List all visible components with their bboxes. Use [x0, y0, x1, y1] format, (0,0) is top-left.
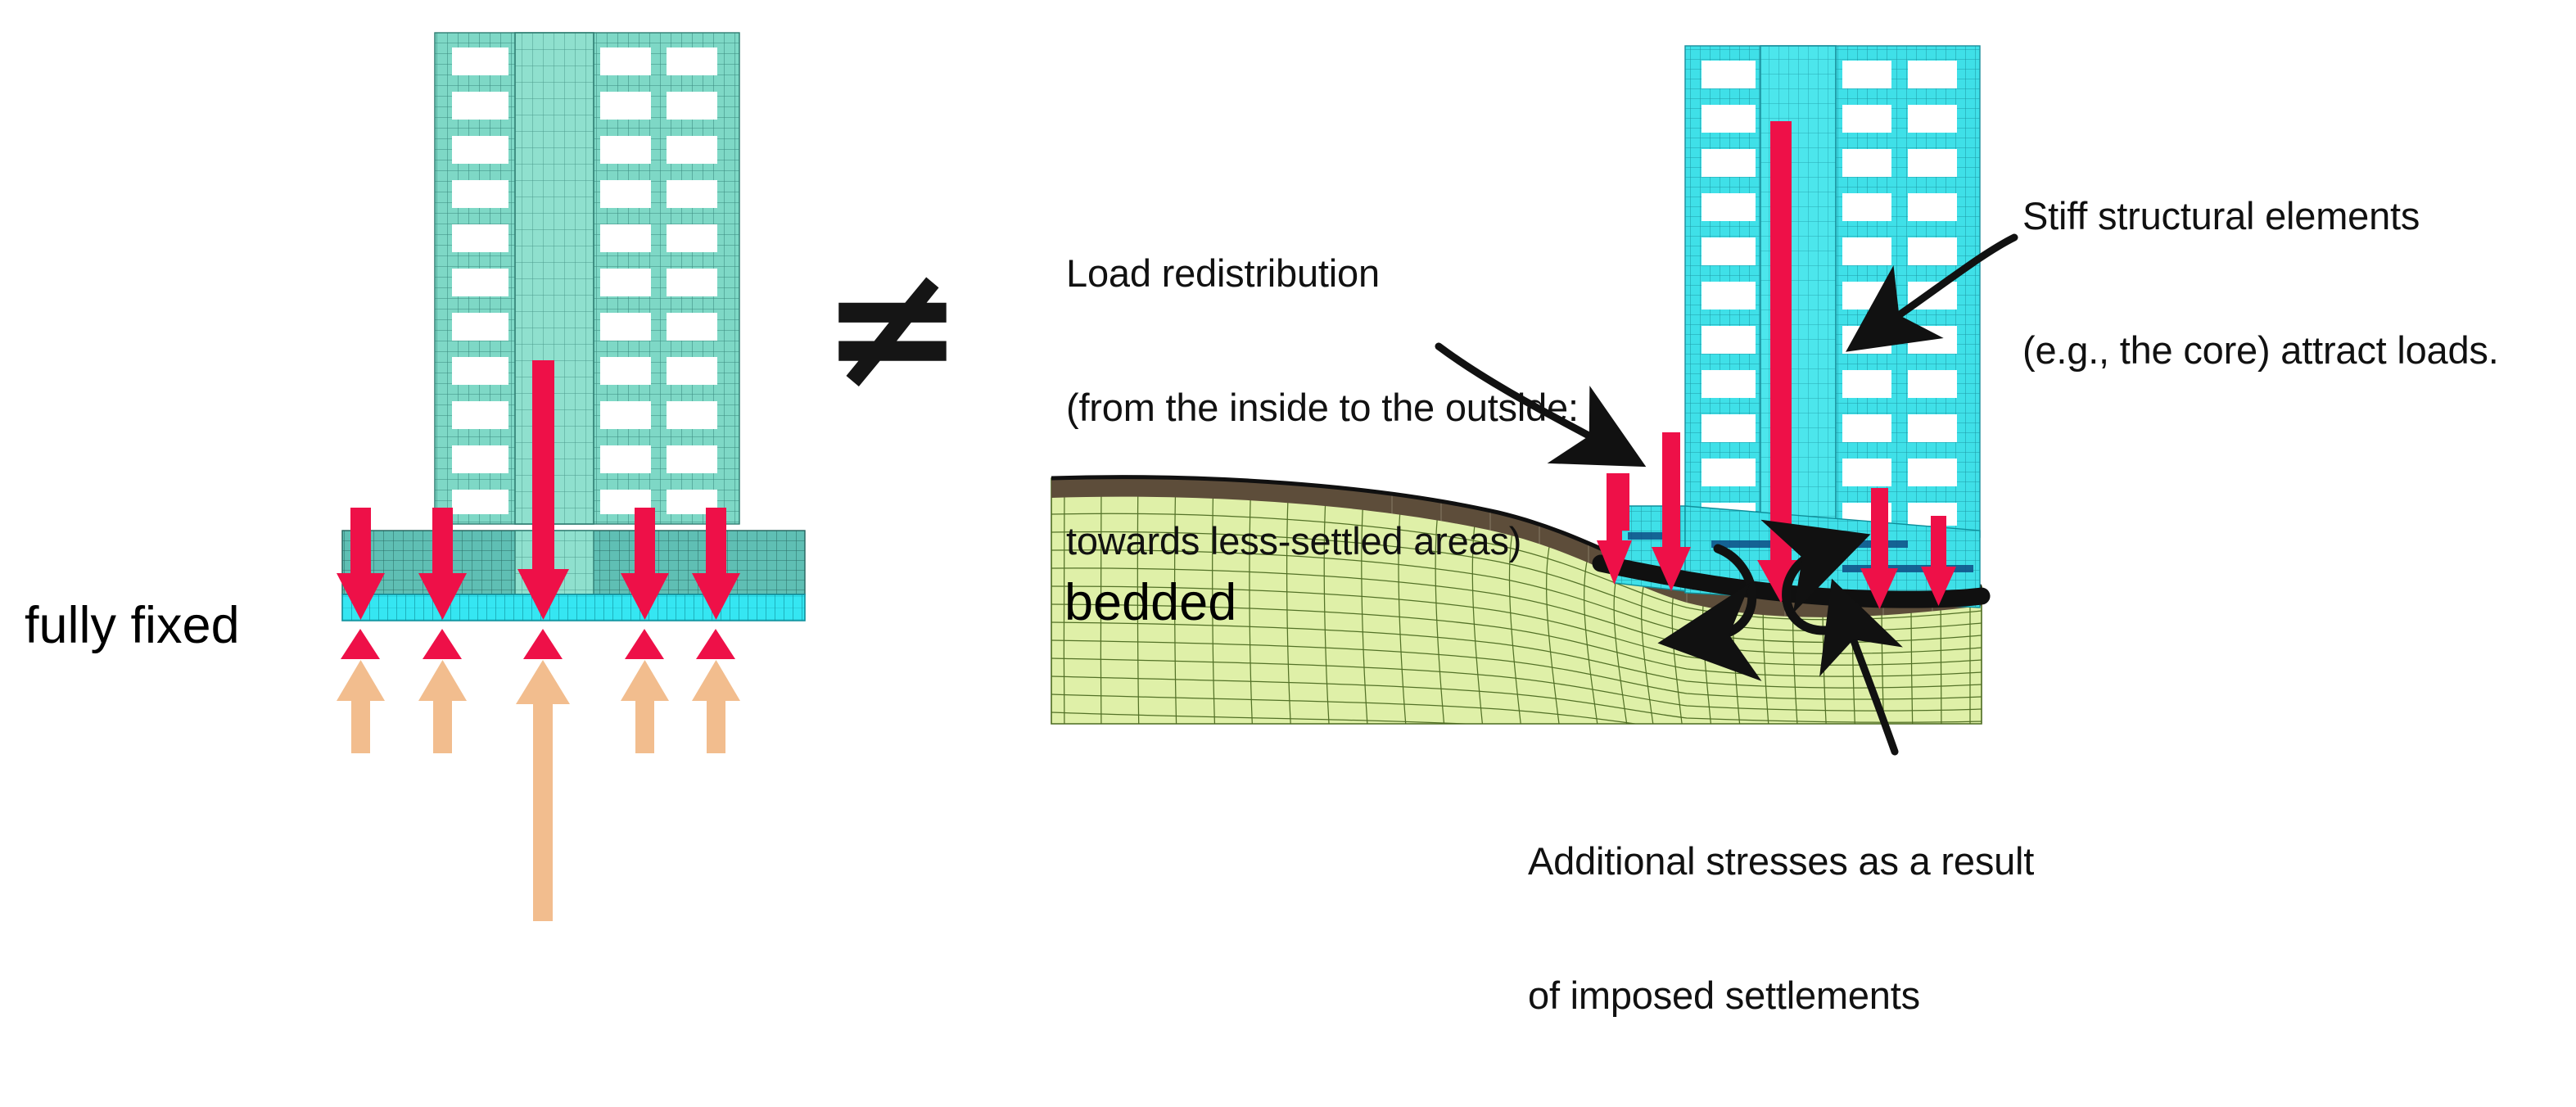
left-reaction-tips	[341, 629, 735, 659]
left-reaction-arrow-2	[418, 660, 467, 753]
annotation-additional-stresses-line-1: Additional stresses as a result	[1528, 839, 2034, 884]
annotation-stiff-elements-line-2: (e.g., the core) attract loads.	[2022, 328, 2499, 373]
left-reaction-arrow-core	[516, 660, 570, 921]
fully-fixed-label: fully fixed	[25, 596, 240, 655]
left-model-group	[337, 33, 805, 921]
right-load-arrow-core-small	[1618, 473, 1629, 531]
left-reaction-arrow-5	[692, 660, 740, 753]
annotation-load-redistribution: Load redistribution (from the inside to …	[1066, 162, 1579, 653]
annotation-load-redistribution-line-1: Load redistribution	[1066, 251, 1579, 296]
left-reaction-arrow-4	[621, 660, 669, 753]
annotation-additional-stresses-line-2: of imposed settlements	[1528, 974, 2034, 1019]
left-podium	[342, 531, 805, 594]
annotation-load-redistribution-line-2: (from the inside to the outside:	[1066, 386, 1579, 431]
not-equal-symbol: ≠	[820, 241, 965, 413]
left-foundation-slab	[342, 594, 805, 621]
left-reaction-arrows	[337, 660, 740, 921]
left-reaction-arrow-1	[337, 660, 385, 753]
annotation-additional-stresses: Additional stresses as a result of impos…	[1528, 750, 2034, 1107]
left-building	[435, 33, 739, 524]
figure-canvas: ≠ fully fixed bedded Load redistribution…	[0, 0, 2576, 934]
annotation-stiff-elements-line-1: Stiff structural elements	[2022, 194, 2499, 239]
annotation-stiff-elements: Stiff structural elements (e.g., the cor…	[2022, 105, 2499, 462]
annotation-load-redistribution-line-3: towards less-settled areas)	[1066, 519, 1579, 564]
